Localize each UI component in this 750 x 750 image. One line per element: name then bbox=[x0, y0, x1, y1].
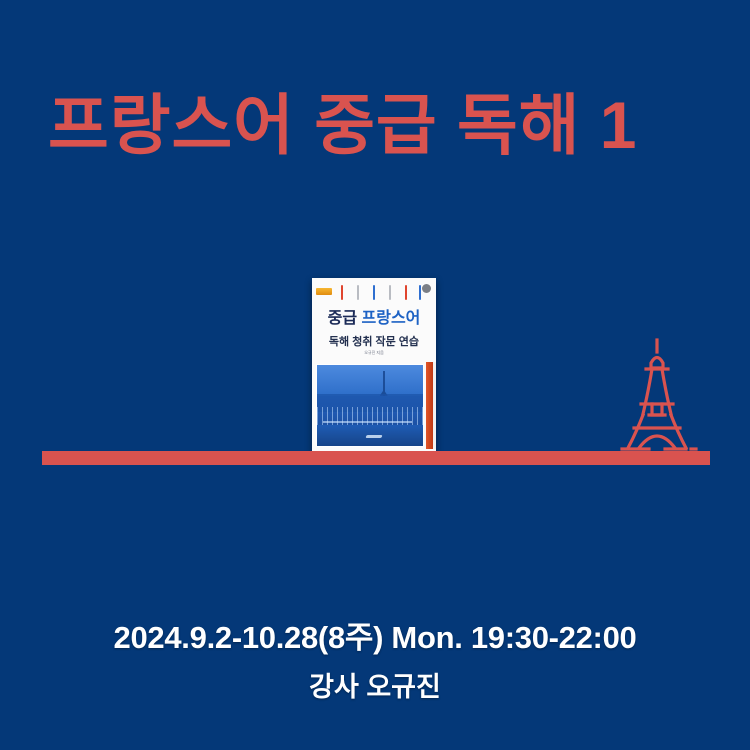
photo-sky bbox=[317, 365, 423, 396]
tally-mark-icon bbox=[389, 285, 391, 300]
circle-dot-icon bbox=[422, 284, 431, 293]
tally-mark-icon bbox=[357, 285, 359, 300]
poster-canvas: 프랑스어 중급 독해 1 bbox=[0, 0, 750, 750]
tally-mark-icon bbox=[419, 285, 421, 300]
eiffel-tower-icon bbox=[616, 338, 698, 456]
book-title-language: 프랑스어 bbox=[362, 310, 421, 327]
book-title-level: 중급 bbox=[328, 310, 362, 327]
page-title: 프랑스어 중급 독해 1 bbox=[48, 89, 637, 163]
photo-eiffel-silhouette bbox=[383, 371, 385, 395]
book-spine-strip bbox=[426, 362, 433, 449]
instructor-text: 강사 오규진 bbox=[0, 665, 750, 704]
tally-mark-icon bbox=[373, 285, 375, 300]
schedule-text: 2024.9.2-10.28(8주) Mon. 19:30-22:00 bbox=[0, 612, 750, 657]
book-badge-icon bbox=[316, 288, 332, 295]
book-cover-image: 중급 프랑스어 독해 청취 작문 연습 오규진 지음 bbox=[312, 278, 436, 453]
photo-boat bbox=[365, 435, 382, 438]
photo-bridge bbox=[323, 421, 412, 423]
book-title: 중급 프랑스어 bbox=[312, 311, 436, 327]
footer-info: 2024.9.2-10.28(8주) Mon. 19:30-22:00 강사 오… bbox=[0, 612, 750, 704]
book-cover-photo bbox=[316, 364, 424, 447]
book-subtitle: 독해 청취 작문 연습 bbox=[312, 333, 436, 349]
book-cover-topbar bbox=[312, 280, 436, 308]
book-cover-inner: 중급 프랑스어 독해 청취 작문 연습 오규진 지음 bbox=[312, 278, 436, 453]
tally-mark-icon bbox=[405, 285, 407, 300]
tally-mark-icon bbox=[341, 285, 343, 300]
shelf-divider bbox=[42, 451, 710, 465]
book-author-credit: 오규진 지음 bbox=[312, 350, 436, 356]
